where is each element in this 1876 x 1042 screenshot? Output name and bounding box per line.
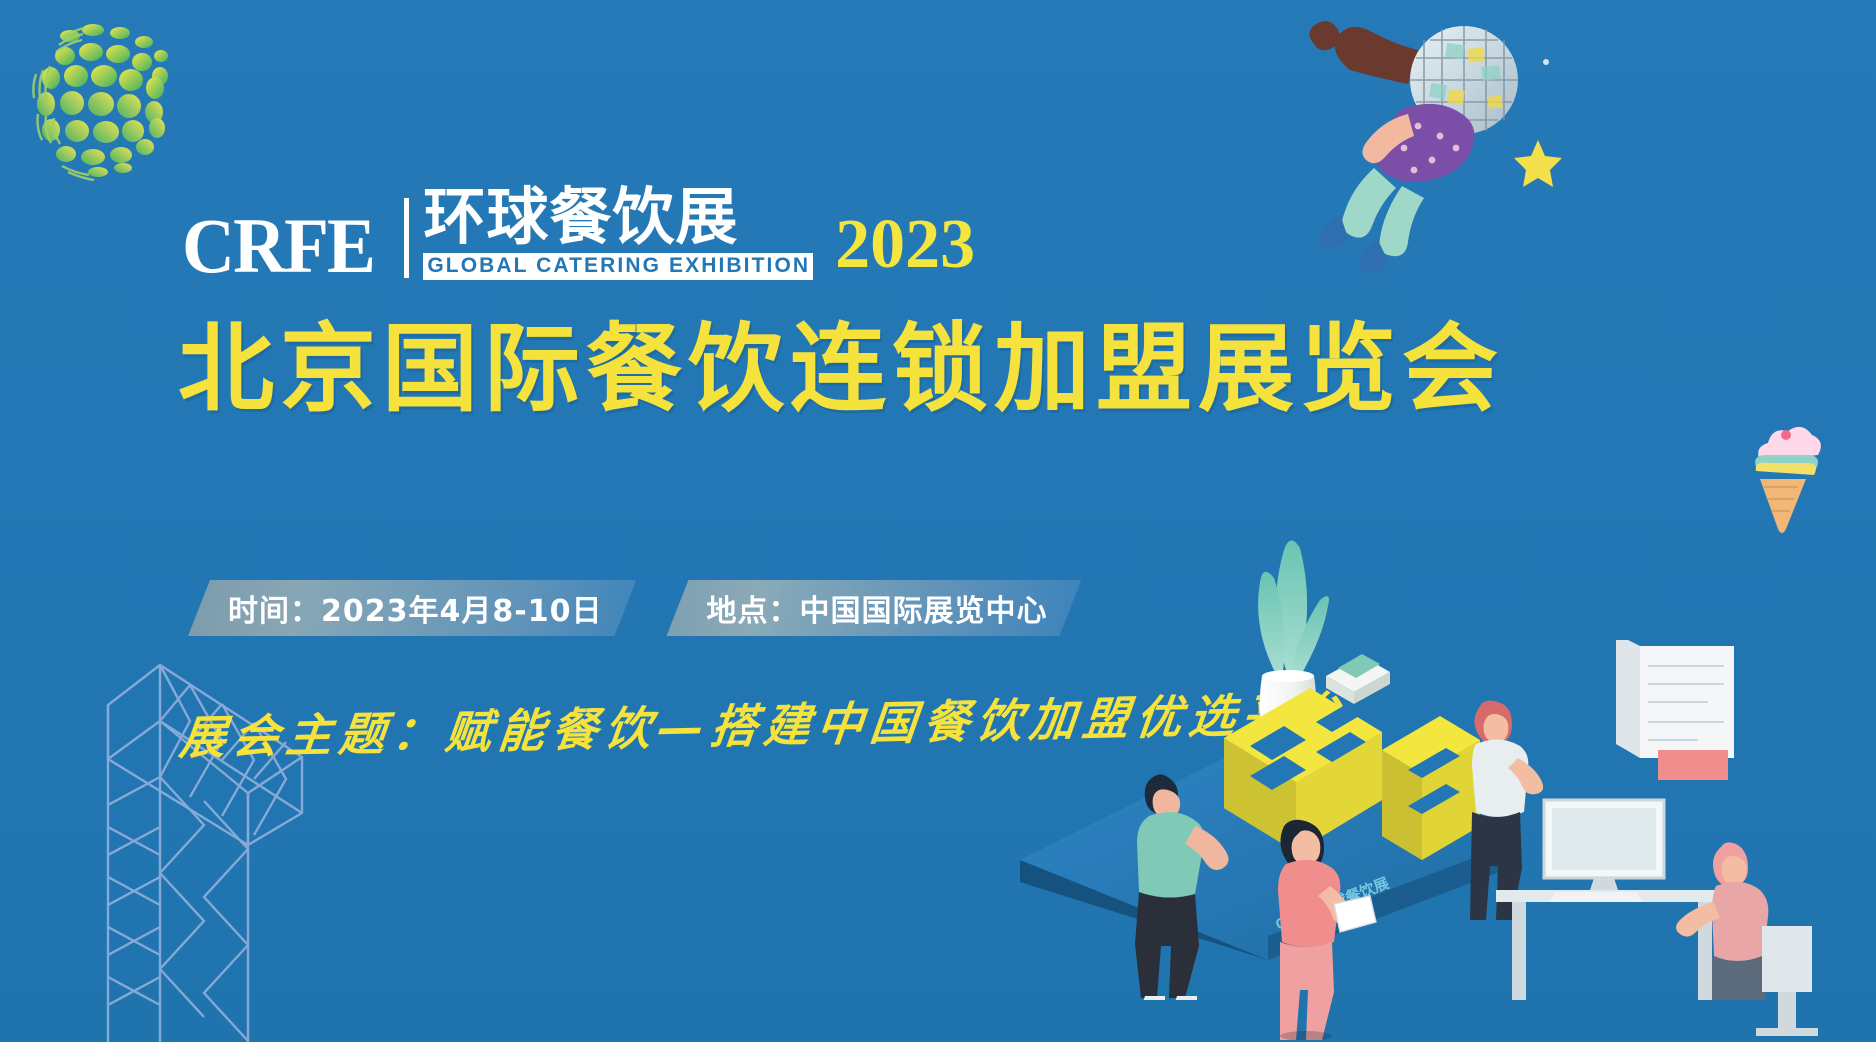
visitor-woman-illustration bbox=[1250, 800, 1380, 1040]
page-title: 北京国际餐饮连锁加盟展览会 bbox=[178, 318, 1504, 422]
office-desk-illustration bbox=[1426, 640, 1866, 1040]
flying-girl-illustration bbox=[1296, 18, 1586, 288]
brand-acronym: CRFE bbox=[182, 210, 374, 282]
logo-divider bbox=[404, 198, 409, 278]
brand-logo: CRFE 环球餐饮展 GLOBAL CATERING EXHIBITION 20… bbox=[182, 186, 975, 282]
event-date-ribbon: 时间： 2023年4月8-10日 bbox=[188, 580, 636, 636]
event-venue-value: 中国国际展览中心 bbox=[799, 586, 1047, 630]
event-date-value: 2023年4月8-10日 bbox=[321, 586, 602, 630]
event-info-row: 时间： 2023年4月8-10日 地点： 中国国际展览中心 bbox=[188, 580, 1081, 636]
brand-english-name: GLOBAL CATERING EXHIBITION bbox=[423, 253, 813, 280]
brand-chinese-name: 环球餐饮展 bbox=[423, 186, 813, 248]
event-year: 2023 bbox=[835, 213, 975, 276]
staff-woman-seated bbox=[1676, 842, 1768, 1000]
event-venue-ribbon: 地点： 中国国际展览中心 bbox=[666, 580, 1081, 636]
cake-box-prop bbox=[1326, 654, 1390, 704]
ice-cream-illustration bbox=[1742, 415, 1824, 535]
visitor-man-illustration bbox=[1115, 760, 1235, 1000]
dotted-globe-logo bbox=[18, 16, 178, 181]
event-date-label: 时间： bbox=[228, 586, 321, 630]
event-banner: CRFE 环球餐饮展 GLOBAL CATERING EXHIBITION 20… bbox=[0, 0, 1876, 1042]
event-venue-label: 地点： bbox=[706, 586, 799, 630]
staff-woman-standing bbox=[1470, 701, 1543, 920]
